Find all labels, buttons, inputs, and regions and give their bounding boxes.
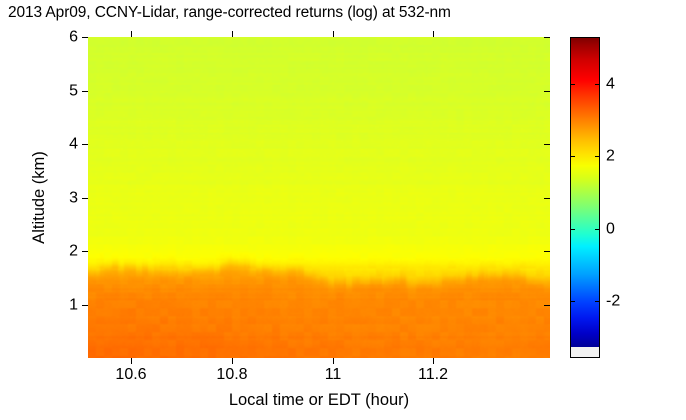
- x-tick-label: 10.6: [115, 365, 146, 384]
- y-tick: [82, 91, 88, 92]
- colorbar-tick-label: 2: [606, 147, 615, 166]
- colorbar-under-range-band: [571, 347, 599, 357]
- x-tick: [232, 358, 233, 364]
- colorbar-tick-label: 0: [606, 220, 615, 239]
- y-tick-label: 1: [69, 296, 78, 315]
- colorbar-tick: [570, 84, 575, 85]
- colorbar-tick: [570, 229, 575, 230]
- colorbar: [570, 37, 600, 358]
- x-tick-top: [232, 31, 233, 37]
- y-tick: [82, 144, 88, 145]
- y-tick-right: [544, 305, 550, 306]
- x-axis-label: Local time or EDT (hour): [88, 391, 550, 410]
- heatmap-plot-area: [88, 37, 550, 358]
- colorbar-tick: [595, 84, 600, 85]
- x-tick-label: 10.8: [216, 365, 247, 384]
- y-tick-label: 2: [69, 242, 78, 261]
- y-axis-label: Altitude (km): [30, 37, 49, 358]
- colorbar-tick: [570, 156, 575, 157]
- y-tick-right: [544, 91, 550, 92]
- colorbar-tick-label: 4: [606, 75, 615, 94]
- colorbar-tick: [595, 156, 600, 157]
- y-tick-label: 5: [69, 82, 78, 101]
- y-tick-right: [544, 251, 550, 252]
- x-tick-top: [333, 31, 334, 37]
- x-tick: [333, 358, 334, 364]
- y-tick-right: [544, 198, 550, 199]
- y-tick: [82, 305, 88, 306]
- y-tick-label: 4: [69, 135, 78, 154]
- y-tick: [82, 251, 88, 252]
- colorbar-tick-label: -2: [606, 292, 620, 311]
- x-tick: [433, 358, 434, 364]
- y-tick: [82, 37, 88, 38]
- x-tick-top: [433, 31, 434, 37]
- y-tick-right: [544, 144, 550, 145]
- y-tick: [82, 198, 88, 199]
- page-title: 2013 Apr09, CCNY-Lidar, range-corrected …: [8, 4, 451, 22]
- x-tick-label: 11.2: [418, 365, 448, 384]
- colorbar-tick: [570, 301, 575, 302]
- colorbar-tick: [595, 229, 600, 230]
- x-tick-top: [131, 31, 132, 37]
- x-tick-label: 11: [325, 365, 342, 384]
- y-tick-right: [544, 37, 550, 38]
- x-tick: [131, 358, 132, 364]
- y-tick-label: 3: [69, 189, 78, 208]
- y-tick-label: 6: [69, 28, 78, 47]
- heatmap-canvas: [88, 37, 550, 358]
- colorbar-tick: [595, 301, 600, 302]
